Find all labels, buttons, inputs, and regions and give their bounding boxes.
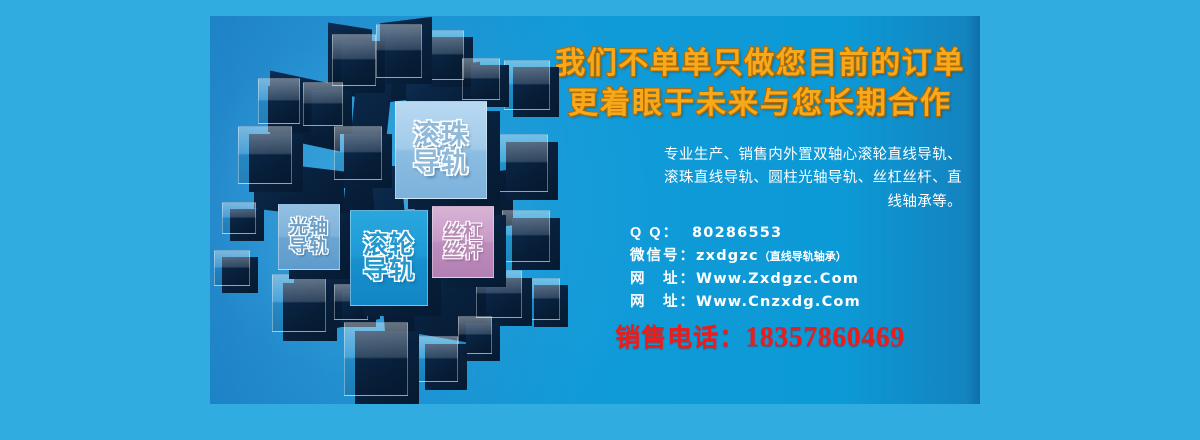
cube-label-line1: 滚轮 (363, 233, 415, 259)
headline-line-1: 我们不单单只做您目前的订单 (540, 44, 980, 84)
contact-row-wechat: 微信号： zxdgzc （直线导轨轴承） (630, 245, 960, 268)
cube-cluster-graphic: 滚珠 导轨 光轴 导轨 滚轮 导轨 (210, 16, 560, 404)
sales-phone: 销售电话：18357860469 (550, 318, 970, 354)
cube-decor (332, 34, 376, 86)
contact-label: 网 址： (630, 291, 696, 314)
cube-decor (376, 24, 422, 78)
cube-decor (214, 250, 250, 286)
cube-label-gunlun-daogui: 滚轮 导轨 (350, 210, 428, 306)
sales-phone-label: 销售电话： (615, 324, 745, 352)
cube-decor (272, 274, 326, 332)
cube-decor (334, 126, 382, 180)
cube-label-line1: 光轴 (289, 218, 329, 237)
headline-line-2: 更着眼于未来与您长期合作 (540, 84, 980, 124)
contact-value: 80286553 (692, 222, 782, 245)
cube-decor (502, 210, 550, 262)
contact-value: zxdgzc (696, 245, 759, 268)
cube-decor (416, 336, 458, 382)
cube-decor (258, 78, 300, 124)
page-root: 滚珠 导轨 光轴 导轨 滚轮 导轨 (0, 0, 1200, 440)
contact-value[interactable]: Www.Zxdgzc.Com (696, 268, 859, 291)
cube-decor (496, 134, 548, 192)
contact-label: 网 址： (630, 268, 696, 291)
cube-decor (504, 60, 550, 110)
cube-label-line2: 丝杆 (443, 242, 483, 261)
cube-decor (222, 202, 256, 234)
cube-label-line1: 丝杠 (443, 223, 483, 242)
cube-decor (344, 322, 408, 396)
contact-note: （直线导轨轴承） (759, 249, 847, 266)
description-line-1: 专业生产、销售内外置双轴心滚轮直线导轨、 (562, 144, 962, 167)
cube-label-line1: 滚珠 (413, 122, 469, 150)
contact-row-website-2[interactable]: 网 址： Www.Cnzxdg.Com (630, 291, 960, 314)
cube-label-line2: 导轨 (363, 258, 415, 284)
cube-decor (238, 126, 292, 184)
contact-label: Q Q： (630, 222, 692, 245)
description-line-2: 滚珠直线导轨、圆柱光轴导轨、丝杠丝杆、直 (562, 167, 962, 190)
cube-label-line2: 导轨 (413, 150, 469, 178)
sales-phone-number: 18357860469 (745, 322, 905, 353)
cube-decor (303, 82, 343, 126)
contact-value[interactable]: Www.Cnzxdg.Com (696, 291, 861, 314)
cube-label-guangzhou-daogui: 光轴 导轨 (278, 204, 340, 270)
contact-label: 微信号： (630, 245, 696, 268)
contact-block: Q Q： 80286553 微信号： zxdgzc （直线导轨轴承） 网 址： … (630, 222, 960, 314)
banner-text-column: 我们不单单只做您目前的订单 更着眼于未来与您长期合作 专业生产、销售内外置双轴心… (540, 16, 980, 404)
contact-row-website-1[interactable]: 网 址： Www.Zxdgzc.Com (630, 268, 960, 291)
description-line-3: 线轴承等。 (562, 191, 962, 214)
cube-label-sigang-sigan: 丝杠 丝杆 (432, 206, 494, 278)
contact-row-qq: Q Q： 80286553 (630, 222, 960, 245)
cube-decor (462, 58, 500, 100)
banner-right-edge (966, 16, 980, 404)
headline: 我们不单单只做您目前的订单 更着眼于未来与您长期合作 (540, 44, 980, 124)
cube-label-line2: 导轨 (289, 237, 329, 256)
cube-label-gunzhu-daogui: 滚珠 导轨 (395, 101, 487, 199)
description: 专业生产、销售内外置双轴心滚轮直线导轨、 滚珠直线导轨、圆柱光轴导轨、丝杠丝杆、… (562, 144, 962, 214)
promo-banner: 滚珠 导轨 光轴 导轨 滚轮 导轨 (210, 16, 980, 404)
